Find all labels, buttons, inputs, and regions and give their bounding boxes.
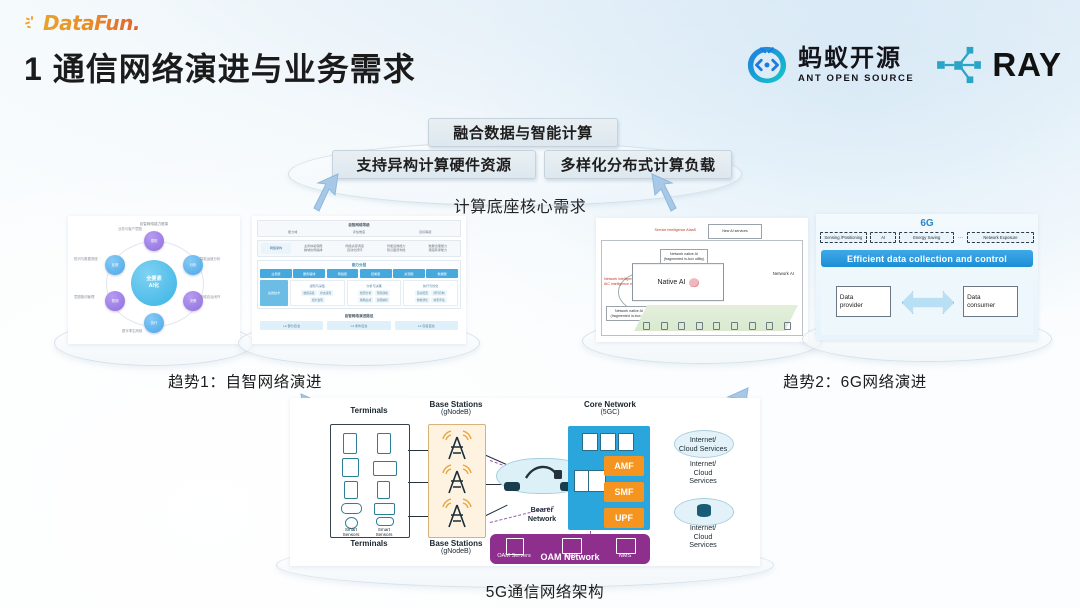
arrow-up-right-from-trend1 xyxy=(308,172,342,212)
base-stations-bottom-line1: Base Stations xyxy=(416,539,496,548)
subgroup-1-title: 分析与决策 xyxy=(349,283,400,288)
panel-6g-data-collection[interactable]: 6G Sensing /Positioning AI Energy Saving… xyxy=(816,214,1038,340)
capability-table: 自智网络等级 能力域 评估维度 目标等级 网络架构 业务体验保障 网络资源调度 … xyxy=(252,216,466,344)
box-data-consumer: Data consumer xyxy=(963,286,1018,318)
wheel-hub: 全要素 AI化 xyxy=(131,260,177,306)
wheel-node-0: 感知 xyxy=(144,231,164,251)
base-stations-top-line1: Base Stations xyxy=(416,400,496,409)
strip-item-1: 服务编排 xyxy=(293,269,325,278)
label-terminals-top: Terminals xyxy=(330,406,408,415)
label-internet-cloud-2: Internet/ Cloud Services xyxy=(668,460,738,486)
device-icon-7 xyxy=(766,322,773,330)
subgroup-0-chips: 数据采集 状态感知 xyxy=(292,290,343,296)
panel-screenshot: 自智网络等级 能力域 评估维度 目标等级 网络架构 业务体验保障 网络资源调度 … xyxy=(252,216,466,344)
label-internet-cloud-3: Internet/ Cloud Services xyxy=(668,524,738,550)
datafun-spark-icon xyxy=(24,14,42,32)
panel-screenshot: Service intelligence AIaaS New AI servic… xyxy=(596,218,808,342)
ray-wordmark: RAY xyxy=(992,46,1062,84)
ray-logo: RAY xyxy=(936,45,1062,85)
page-title: 1 通信网络演进与业务需求 xyxy=(24,44,416,90)
panel-5g-architecture[interactable]: Terminals Smart Sensors Smart Sensors Te… xyxy=(290,398,760,566)
link-term-bs-2 xyxy=(408,482,428,483)
requirement-box-heterogeneous-hardware: 支持异构计算硬件资源 xyxy=(332,150,536,179)
subgroup-0-chip-0: 数据采集 xyxy=(301,290,316,296)
footer-chip-2: L4 高度自治 xyxy=(395,321,458,330)
device-smartphone-2 xyxy=(377,433,391,454)
core-line1: Core Network xyxy=(562,400,658,409)
table-header-band: 自智网络等级 能力域 评估维度 目标等级 xyxy=(257,220,461,237)
box-data-provider: Data provider xyxy=(836,286,891,318)
hexagon-wheel: 全要素 AI化 感知 分析 决策 执行 预测 反馈 xyxy=(98,235,210,331)
capability-layers-band: 能力分层 业务层 服务编排 网络层 控制层 资源层 数据层 关键技术 感知与采 xyxy=(257,260,461,310)
label-core-network: Core Network (5GC) xyxy=(562,400,658,417)
label-base-stations-bottom: Base Stations (gNodeB) xyxy=(416,539,496,556)
sixg-tag-ai: AI xyxy=(870,232,897,243)
hub-line-2: AI化 xyxy=(149,283,159,290)
label-base-stations-top: Base Stations (gNodeB) xyxy=(416,400,496,417)
network-ai-frame: Network AI Network native AI (fragmented… xyxy=(601,240,803,336)
link-term-bs-1 xyxy=(408,450,428,451)
sixg-diagram: 6G Sensing /Positioning AI Energy Saving… xyxy=(816,214,1038,340)
core-server-icon-2 xyxy=(600,433,616,451)
subgroup-2: 执行与优化 自动配置 闭环控制 参数调优 效果评估 xyxy=(403,280,458,306)
table-footer-title: 自智网络演进路径 xyxy=(260,314,458,319)
strip-item-3: 控制层 xyxy=(360,269,392,278)
device-icon-8 xyxy=(784,322,791,330)
subgroup-1-chip-1: 预测建模 xyxy=(375,290,390,296)
network-function-upf: UPF xyxy=(604,508,644,528)
table-header-cell-1: 评估维度 xyxy=(327,230,390,235)
label-service-intelligence: Service intelligence AIaaS xyxy=(634,228,696,233)
box-new-ai-services: New AI services xyxy=(708,224,762,239)
core-server-icon-3 xyxy=(618,433,634,451)
subgroup-0-chip-1: 状态感知 xyxy=(318,290,333,296)
subgroup-0: 感知与采集 数据采集 状态感知 拓扑发现 xyxy=(290,280,345,306)
arrow-up-left-from-trend2 xyxy=(648,172,682,212)
base-stations-top-line2: (gNodeB) xyxy=(416,409,496,417)
table-body-band: 网络架构 业务体验保障 网络资源调度 智能运维能力 数据治理能力 跨域协同编排 … xyxy=(257,240,461,257)
device-laptop xyxy=(373,461,397,476)
caption-5g-architecture: 5G通信网络架构 xyxy=(420,580,670,602)
slide: DataFun. 1 通信网络演进与业务需求 蚂蚁开源 ANT OPEN SOU… xyxy=(0,0,1080,608)
device-icon-3 xyxy=(696,322,703,330)
device-icon-2 xyxy=(678,322,685,330)
data-provider-line2: provider xyxy=(840,302,863,310)
device-icon-4 xyxy=(713,322,720,330)
sixg-tag-network-exposure: Network Exposure xyxy=(967,232,1034,243)
sixg-efficient-data-bar: Efficient data collection and control xyxy=(821,250,1033,267)
base-stations-bottom-line2: (gNodeB) xyxy=(416,548,496,556)
sixg-tag-ellipsis: ··· xyxy=(957,235,964,241)
table-body-cell-1-2: 知识图谱构建 xyxy=(377,248,416,253)
device-icon-row xyxy=(638,319,796,330)
icloud-3-line3: Services xyxy=(668,541,738,550)
native-ai-diagram: Service intelligence AIaaS New AI servic… xyxy=(596,218,808,342)
device-wearable xyxy=(341,503,362,514)
data-consumer-line2: consumer xyxy=(967,302,995,310)
ant-open-source-logo: 蚂蚁开源 ANT OPEN SOURCE xyxy=(744,44,914,86)
panel-native-ai[interactable]: Service intelligence AIaaS New AI servic… xyxy=(596,218,808,342)
subgroup-2-chip-3: 效果评估 xyxy=(431,297,446,303)
sixg-tag-sensing: Sensing /Positioning xyxy=(820,232,867,243)
table-row-label: 网络架构 xyxy=(261,243,291,254)
subgroup-2-chips-2: 参数调优 效果评估 xyxy=(405,297,456,303)
panel-screenshot: Terminals Smart Sensors Smart Sensors Te… xyxy=(290,398,760,566)
wheel-node-5: 反馈 xyxy=(105,255,125,275)
ant-wordmark: 蚂蚁开源 ANT OPEN SOURCE xyxy=(798,47,914,84)
requirement-box-distributed-workload: 多样化分布式计算负载 xyxy=(544,150,732,179)
device-smartphone-1 xyxy=(343,433,357,454)
network-function-smf: SMF xyxy=(604,482,644,502)
strip-item-4: 资源层 xyxy=(393,269,425,278)
ray-mark-icon xyxy=(936,45,982,85)
capability-strip: 业务层 服务编排 网络层 控制层 资源层 数据层 xyxy=(260,269,458,278)
wheel-title: 自智网络能力框架 xyxy=(68,222,240,227)
panel-autonomous-network[interactable]: 自智网络能力框架 全要素 AI化 感知 分析 决策 执行 预测 反馈 业务与客户… xyxy=(68,216,240,344)
caption-trend1: 趋势1：自智网络演进 xyxy=(120,370,370,392)
internet-cloud-3 xyxy=(674,498,734,526)
panel-network-capability-table[interactable]: 自智网络等级 能力域 评估维度 目标等级 网络架构 业务体验保障 网络资源调度 … xyxy=(252,216,466,344)
label-smart-sensors-1: Smart Sensors xyxy=(339,527,363,538)
router-icon-1 xyxy=(504,482,520,491)
cable-icon xyxy=(524,462,564,484)
strip-item-2: 网络层 xyxy=(327,269,359,278)
oam-network-box: OAM Servers EMS NMS OAM Network xyxy=(490,534,650,564)
subgroup-1-chip-2: 策略生成 xyxy=(358,297,373,303)
box-native-ai-core: Native AI xyxy=(632,264,724,302)
capability-subgrid: 感知与采集 数据采集 状态感知 拓扑发现 分析与决策 xyxy=(290,280,458,306)
wheel-label-2: 网络自治闭环 xyxy=(200,294,220,299)
table-header-title: 自智网络等级 xyxy=(261,223,457,228)
subgroup-1-chip-3: 意图解析 xyxy=(375,297,390,303)
table-body-cell-1-3: 意图转译能力 xyxy=(419,248,458,253)
hub-line-1: 全要素 xyxy=(146,276,162,283)
wheel-label-4: 意图驱动管理 xyxy=(74,294,94,299)
subgroup-1-chips: 根因分析 预测建模 xyxy=(349,290,400,296)
subgroup-0-chips-2: 拓扑发现 xyxy=(292,297,343,303)
device-sensor-2 xyxy=(376,517,394,526)
fiveg-diagram: Terminals Smart Sensors Smart Sensors Te… xyxy=(290,398,760,566)
label-terminals-bottom: Terminals xyxy=(330,539,408,548)
panel-screenshot: 自智网络能力框架 全要素 AI化 感知 分析 决策 执行 预测 反馈 业务与客户… xyxy=(68,216,240,344)
capability-subgrid-wrap: 关键技术 感知与采集 数据采集 状态感知 拓扑发现 xyxy=(260,280,458,306)
label-smart-sensors-2: Smart Sensors xyxy=(371,527,397,538)
device-icon-0 xyxy=(643,322,650,330)
icloud-1-line2: Cloud Services xyxy=(668,445,738,454)
table-body-row-1: 跨域协同编排 自动化闭环 知识图谱构建 意图转译能力 xyxy=(294,248,457,253)
datafun-logo: DataFun. xyxy=(24,10,140,36)
wheel-node-3: 执行 xyxy=(144,313,164,333)
wheel-label-1: 智能运维分析 xyxy=(200,256,220,261)
wheel-label-5: 知识与数据底座 xyxy=(74,256,98,261)
data-provider-line1: Data xyxy=(840,294,854,302)
label-oam-network: OAM Network xyxy=(490,552,650,562)
device-tablet xyxy=(342,458,359,477)
brain-icon xyxy=(689,278,699,287)
subgrid-side-label: 关键技术 xyxy=(260,280,288,306)
sixg-body: Data provider Data consumer xyxy=(821,272,1033,335)
datafun-wordmark: DataFun. xyxy=(43,11,140,35)
subgroup-0-chip-2: 拓扑发现 xyxy=(310,297,325,303)
table-header-row: 能力域 评估维度 目标等级 xyxy=(261,230,457,235)
core-line2: (5GC) xyxy=(562,409,658,417)
sixg-tag-row: Sensing /Positioning AI Energy Saving ··… xyxy=(820,232,1034,243)
table-header-cell-0: 能力域 xyxy=(261,230,324,235)
subgroup-1-chips-2: 策略生成 意图解析 xyxy=(349,297,400,303)
table-header-cell-2: 目标等级 xyxy=(394,230,457,235)
device-icon-5 xyxy=(731,322,738,330)
core-network-box: AMF SMF UPF xyxy=(568,426,650,530)
table-body-cell-1-1: 自动化闭环 xyxy=(336,248,375,253)
table-body-cell-1-0: 跨域协同编排 xyxy=(294,248,333,253)
footer-chip-0: L2 部分自治 xyxy=(260,321,323,330)
subgroup-2-chip-0: 自动配置 xyxy=(415,290,430,296)
subgroup-2-title: 执行与优化 xyxy=(405,283,456,288)
icloud-2-line3: Services xyxy=(668,477,738,486)
strip-item-5: 数据层 xyxy=(426,269,458,278)
device-icon-1 xyxy=(661,322,668,330)
subgroup-1-chip-0: 根因分析 xyxy=(358,290,373,296)
ant-name-cn: 蚂蚁开源 xyxy=(798,47,914,71)
device-icon-6 xyxy=(749,322,756,330)
wheel-label-3: 数字孪生网络 xyxy=(122,328,142,333)
antenna-tower-icons xyxy=(429,425,485,537)
link-term-bs-3 xyxy=(408,516,428,517)
wheel-label-0: 业务与客户意图 xyxy=(118,226,142,231)
table-footer-band: 自智网络演进路径 L2 部分自治 L3 条件自治 L4 高度自治 xyxy=(257,312,461,332)
subgroup-1: 分析与决策 根因分析 预测建模 策略生成 意图解析 xyxy=(347,280,402,306)
subgroup-2-chip-2: 参数调优 xyxy=(415,297,430,303)
brand-logos: 蚂蚁开源 ANT OPEN SOURCE RAY xyxy=(744,44,1062,86)
ant-name-en: ANT OPEN SOURCE xyxy=(798,74,914,84)
label-internet-cloud-1: Internet/ Cloud Services xyxy=(668,436,738,453)
device-vehicle xyxy=(374,503,395,515)
base-stations-group-box xyxy=(428,424,486,538)
sixg-title: 6G xyxy=(816,218,1038,229)
core-server-icon-1 xyxy=(582,433,598,451)
network-function-amf: AMF xyxy=(604,456,644,476)
panel-screenshot: 6G Sensing /Positioning AI Energy Saving… xyxy=(816,214,1038,340)
device-phone-4 xyxy=(377,481,390,499)
subgroup-0-title: 感知与采集 xyxy=(292,283,343,288)
data-consumer-line1: Data xyxy=(967,294,981,302)
wheel-node-4: 预测 xyxy=(105,291,125,311)
table-footer-chips: L2 部分自治 L3 条件自治 L4 高度自治 xyxy=(260,321,458,330)
subgroup-2-chips: 自动配置 闭环控制 xyxy=(405,290,456,296)
capability-layers-title: 能力分层 xyxy=(260,263,458,268)
label-network-ai: Network AI xyxy=(773,271,794,276)
native-ai-label: Native AI xyxy=(657,279,685,286)
terminals-group-box: Smart Sensors Smart Sensors xyxy=(330,424,410,538)
subgroup-2-chip-1: 闭环控制 xyxy=(431,290,446,296)
database-icon xyxy=(697,504,711,517)
bidirectional-arrow-icon xyxy=(902,291,955,314)
requirement-box-fused-data-ai: 融合数据与智能计算 xyxy=(428,118,618,147)
device-phone-3 xyxy=(344,481,358,499)
ant-mark-icon xyxy=(744,44,790,86)
footer-chip-1: L3 条件自治 xyxy=(327,321,390,330)
strip-item-0: 业务层 xyxy=(260,269,292,278)
sixg-tag-energy-saving: Energy Saving xyxy=(899,232,954,243)
caption-trend2: 趋势2：6G网络演进 xyxy=(730,370,980,392)
